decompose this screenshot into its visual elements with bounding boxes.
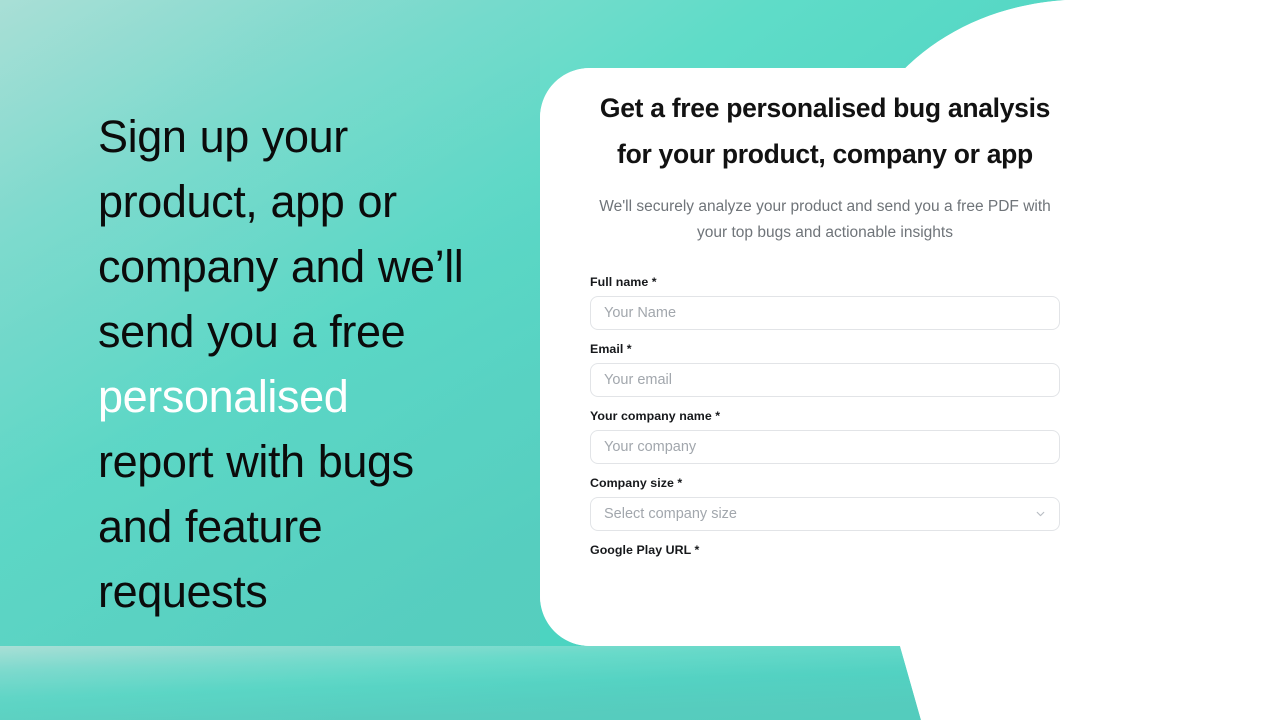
form-subtitle: We'll securely analyze your product and …: [590, 194, 1060, 246]
form-card-content: Get a free personalised bug analysis for…: [590, 68, 1060, 570]
field-full-name: Full name * Your Name: [590, 275, 1060, 330]
chevron-down-icon[interactable]: [1034, 508, 1047, 521]
select-company-size[interactable]: Select company size: [590, 497, 1060, 531]
field-email: Email * Your email: [590, 342, 1060, 397]
hero-line-5: report with bugs: [98, 436, 414, 487]
input-full-name[interactable]: Your Name: [590, 296, 1060, 330]
hero-headline: Sign up your product, app or company and…: [98, 104, 518, 624]
hero-line-4: send you a free: [98, 306, 405, 357]
placeholder-full-name: Your Name: [604, 306, 676, 321]
field-company-size: Company size * Select company size: [590, 476, 1060, 531]
placeholder-company-size: Select company size: [604, 507, 737, 522]
signup-form: Full name * Your Name Email * Your email…: [590, 275, 1060, 557]
label-company-size: Company size *: [590, 476, 1060, 490]
label-full-name: Full name *: [590, 275, 1060, 289]
input-company-name[interactable]: Your company: [590, 430, 1060, 464]
hero-line-7: requests: [98, 566, 267, 617]
hero-line-2: product, app or: [98, 176, 397, 227]
field-company-name: Your company name * Your company: [590, 409, 1060, 464]
label-company-name: Your company name *: [590, 409, 1060, 423]
hero-line-6: and feature: [98, 501, 322, 552]
input-email[interactable]: Your email: [590, 363, 1060, 397]
hero-line-1: Sign up your: [98, 111, 348, 162]
label-google-play-url: Google Play URL *: [590, 543, 1060, 557]
placeholder-email: Your email: [604, 373, 672, 388]
signup-form-card: Get a free personalised bug analysis for…: [540, 68, 1280, 646]
page-root: Sign up your product, app or company and…: [0, 0, 1280, 720]
form-title: Get a free personalised bug analysis for…: [590, 85, 1060, 177]
label-email: Email *: [590, 342, 1060, 356]
hero-accent-word: personalised: [98, 371, 348, 422]
field-google-play-url: Google Play URL *: [590, 543, 1060, 557]
placeholder-company-name: Your company: [604, 440, 696, 455]
hero-line-3: company and we’ll: [98, 241, 463, 292]
